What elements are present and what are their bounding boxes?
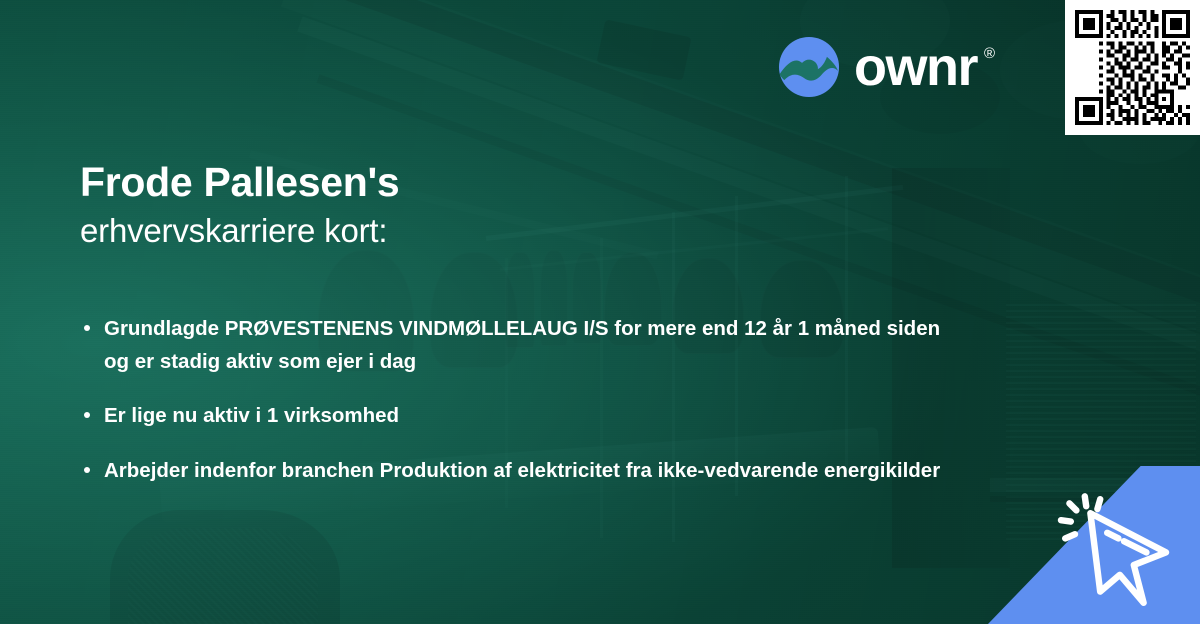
corner-accent — [988, 466, 1200, 624]
ownr-career-card: ownr ® — [0, 0, 1200, 624]
bullet-dot-icon — [84, 412, 90, 418]
ownr-wordmark-text: ownr — [854, 37, 977, 97]
ownr-circle-swoosh-icon — [778, 36, 840, 98]
ownr-logo[interactable]: ownr ® — [778, 36, 995, 98]
ownr-wordmark: ownr ® — [854, 40, 995, 94]
list-item-label: Er lige nu aktiv i 1 virksomhed — [104, 404, 399, 427]
qr-code[interactable] — [1065, 0, 1200, 135]
click-cursor-icon — [1054, 488, 1194, 624]
person-name: Frode Pallesen's — [80, 158, 780, 206]
list-item: Arbejder indenfor branchen Produktion af… — [80, 454, 960, 487]
bullet-dot-icon — [84, 467, 90, 473]
qr-code-icon — [1075, 10, 1190, 125]
list-item-label: Arbejder indenfor branchen Produktion af… — [104, 459, 940, 482]
card-content: ownr ® — [0, 0, 1200, 624]
bullet-dot-icon — [84, 325, 90, 331]
list-item: Grundlagde PRØVESTENENS VINDMØLLELAUG I/… — [80, 312, 960, 378]
list-item-label: Grundlagde PRØVESTENENS VINDMØLLELAUG I/… — [104, 317, 940, 373]
page-title: Frode Pallesen's erhvervskarriere kort: — [80, 158, 780, 253]
career-facts-list: Grundlagde PRØVESTENENS VINDMØLLELAUG I/… — [80, 312, 980, 487]
list-item: Er lige nu aktiv i 1 virksomhed — [80, 399, 960, 432]
registered-trademark-icon: ® — [984, 46, 995, 61]
title-subtitle: erhvervskarriere kort: — [80, 210, 780, 253]
